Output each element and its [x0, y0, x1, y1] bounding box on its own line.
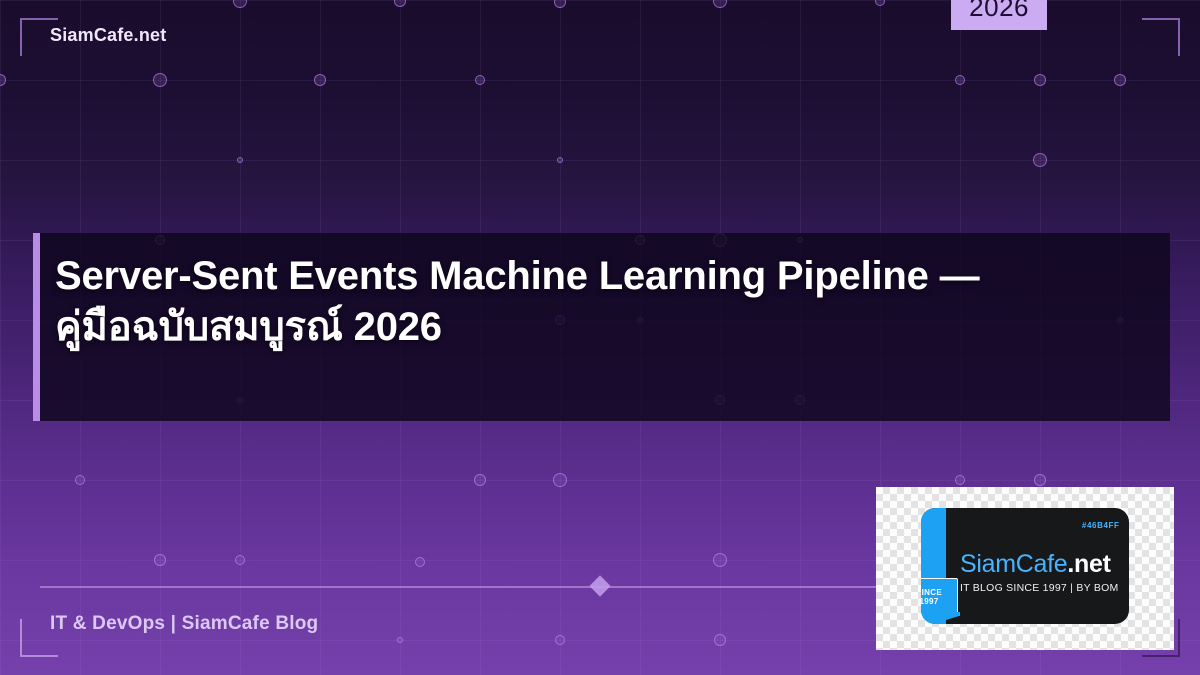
grid-dot: [235, 555, 245, 565]
title-accent-bar: [33, 233, 40, 421]
logo-tagline: IT BLOG SINCE 1997 | BY BOM: [960, 582, 1118, 594]
grid-dot: [394, 0, 406, 7]
logo-blue-stripe: SINCE 1997: [921, 508, 946, 624]
grid-dot: [1034, 74, 1046, 86]
grid-dot: [713, 0, 727, 8]
corner-bracket-top-right: [1142, 18, 1180, 56]
since-label: SINCE: [921, 588, 942, 597]
logo-wordmark-primary: SiamCafe: [960, 550, 1067, 578]
grid-dot: [875, 0, 885, 6]
logo-wordmark-suffix: .net: [1067, 550, 1110, 578]
grid-dot: [555, 635, 565, 645]
grid-dot: [233, 0, 247, 8]
since-year: 1997: [921, 597, 939, 606]
page-title: Server-Sent Events Machine Learning Pipe…: [33, 233, 1033, 353]
divider-diamond-marker: [589, 575, 610, 596]
logo-image: SINCE 1997 #46B4FF SiamCafe.net IT BLOG …: [921, 508, 1129, 624]
grid-dot: [154, 554, 166, 566]
logo-wordmark: SiamCafe.net: [960, 550, 1118, 579]
grid-dot: [153, 73, 167, 87]
grid-dot: [0, 74, 6, 86]
grid-dot: [474, 474, 486, 486]
grid-dot: [475, 75, 485, 85]
brand-name: SiamCafe.net: [50, 25, 166, 46]
grid-dot: [1033, 153, 1047, 167]
grid-dot: [713, 553, 727, 567]
footer-category: IT & DevOps | SiamCafe Blog: [50, 613, 318, 635]
hex-color-label: #46B4FF: [1082, 521, 1120, 530]
grid-dot: [955, 75, 965, 85]
grid-dot: [237, 157, 243, 163]
grid-dot: [955, 475, 965, 485]
grid-dot: [397, 637, 403, 643]
grid-dot: [553, 473, 567, 487]
grid-dot: [1034, 474, 1046, 486]
year-badge: 2026: [951, 0, 1047, 30]
grid-dot: [1114, 74, 1126, 86]
grid-dot: [557, 157, 563, 163]
grid-dot: [714, 634, 726, 646]
title-block: Server-Sent Events Machine Learning Pipe…: [33, 233, 1170, 421]
grid-dot: [415, 557, 425, 567]
grid-dot: [314, 74, 326, 86]
logo-text-area: #46B4FF SiamCafe.net IT BLOG SINCE 1997 …: [946, 508, 1129, 624]
slide-canvas: SiamCafe.net 2026 Server-Sent Events Mac…: [0, 0, 1200, 675]
grid-dot: [554, 0, 566, 8]
logo-card: SINCE 1997 #46B4FF SiamCafe.net IT BLOG …: [876, 487, 1174, 650]
grid-dot: [75, 475, 85, 485]
